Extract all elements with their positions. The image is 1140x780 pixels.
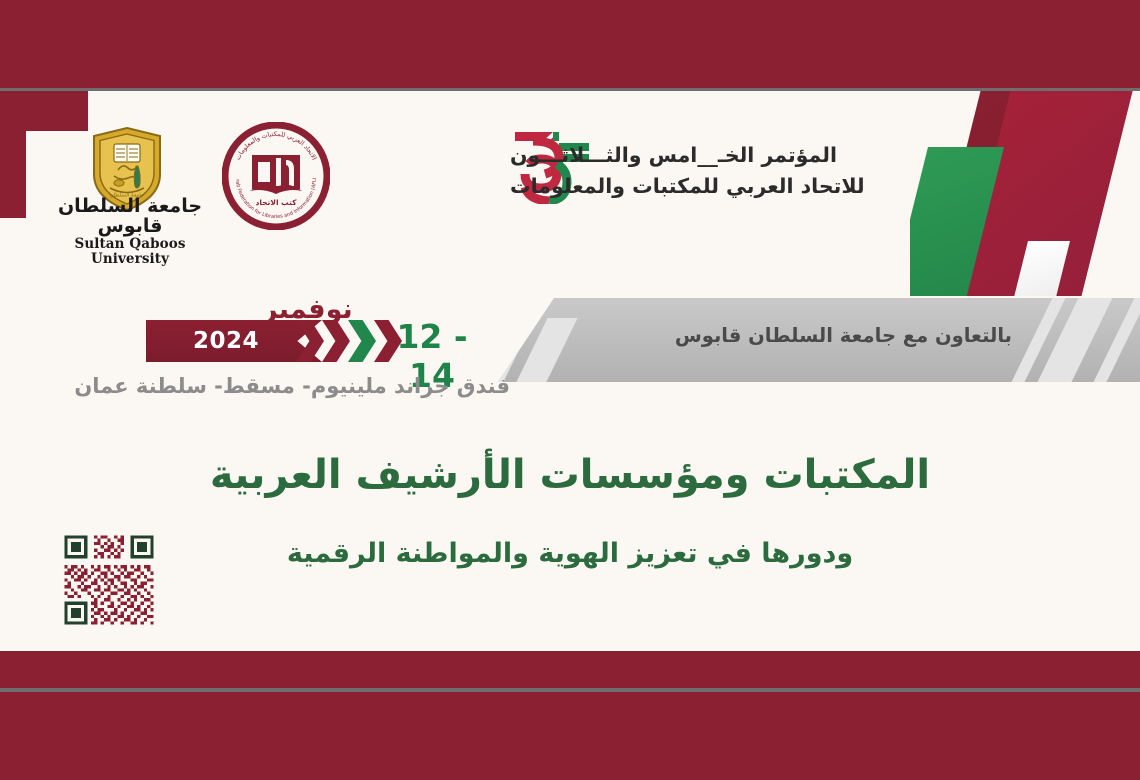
- collaboration-ribbon: بالتعاون مع جامعة السلطان قابوس: [498, 298, 1140, 382]
- top-band: [0, 0, 1140, 88]
- conference-title-line1: المؤتمر الخـ__امس والثـــلاثـــون: [510, 140, 890, 171]
- squ-caption: جامعة السلطان قابوس Sultan Qaboos Univer…: [40, 197, 220, 268]
- oman-flag-stripes: [910, 91, 1140, 296]
- poster-content-panel: جامعة السلطان جامعة السلطان قابوس Sultan…: [0, 91, 1140, 651]
- theme-line2: ودورها في تعزيز الهوية والمواطنة الرقمية: [0, 538, 1140, 569]
- corner-bracket-horizontal: [0, 91, 88, 131]
- chevron-2: [322, 320, 350, 362]
- ribbon-slash: [516, 318, 577, 382]
- middle-band: [0, 651, 1140, 688]
- squ-name-english: Sultan Qaboos University: [40, 237, 220, 268]
- chevron-3: [348, 320, 376, 362]
- bottom-band: [0, 692, 1140, 780]
- conference-poster: جامعة السلطان جامعة السلطان قابوس Sultan…: [0, 0, 1140, 780]
- collaboration-text: بالتعاون مع جامعة السلطان قابوس: [675, 324, 1012, 347]
- squ-name-arabic: جامعة السلطان قابوس: [40, 197, 220, 237]
- conference-title-line2: للاتحاد العربي للمكتبات والمعلومات: [510, 171, 890, 202]
- svg-text:كتب الاتحاد: كتب الاتحاد: [255, 198, 297, 207]
- venue-text: فندق جراند ملينيوم- مسقط- سلطنة عمان: [110, 374, 510, 398]
- theme-line1: المكتبات ومؤسسات الأرشيف العربية: [0, 452, 1140, 498]
- qr-code[interactable]: [61, 532, 157, 628]
- year-label: 2024: [146, 320, 306, 362]
- conference-title: المؤتمر الخـ__امس والثـــلاثـــون للاتحا…: [510, 140, 890, 202]
- arab-federation-libraries-logo: كتب الاتحاد الاتحاد العربي للمكتبات والم…: [222, 122, 330, 230]
